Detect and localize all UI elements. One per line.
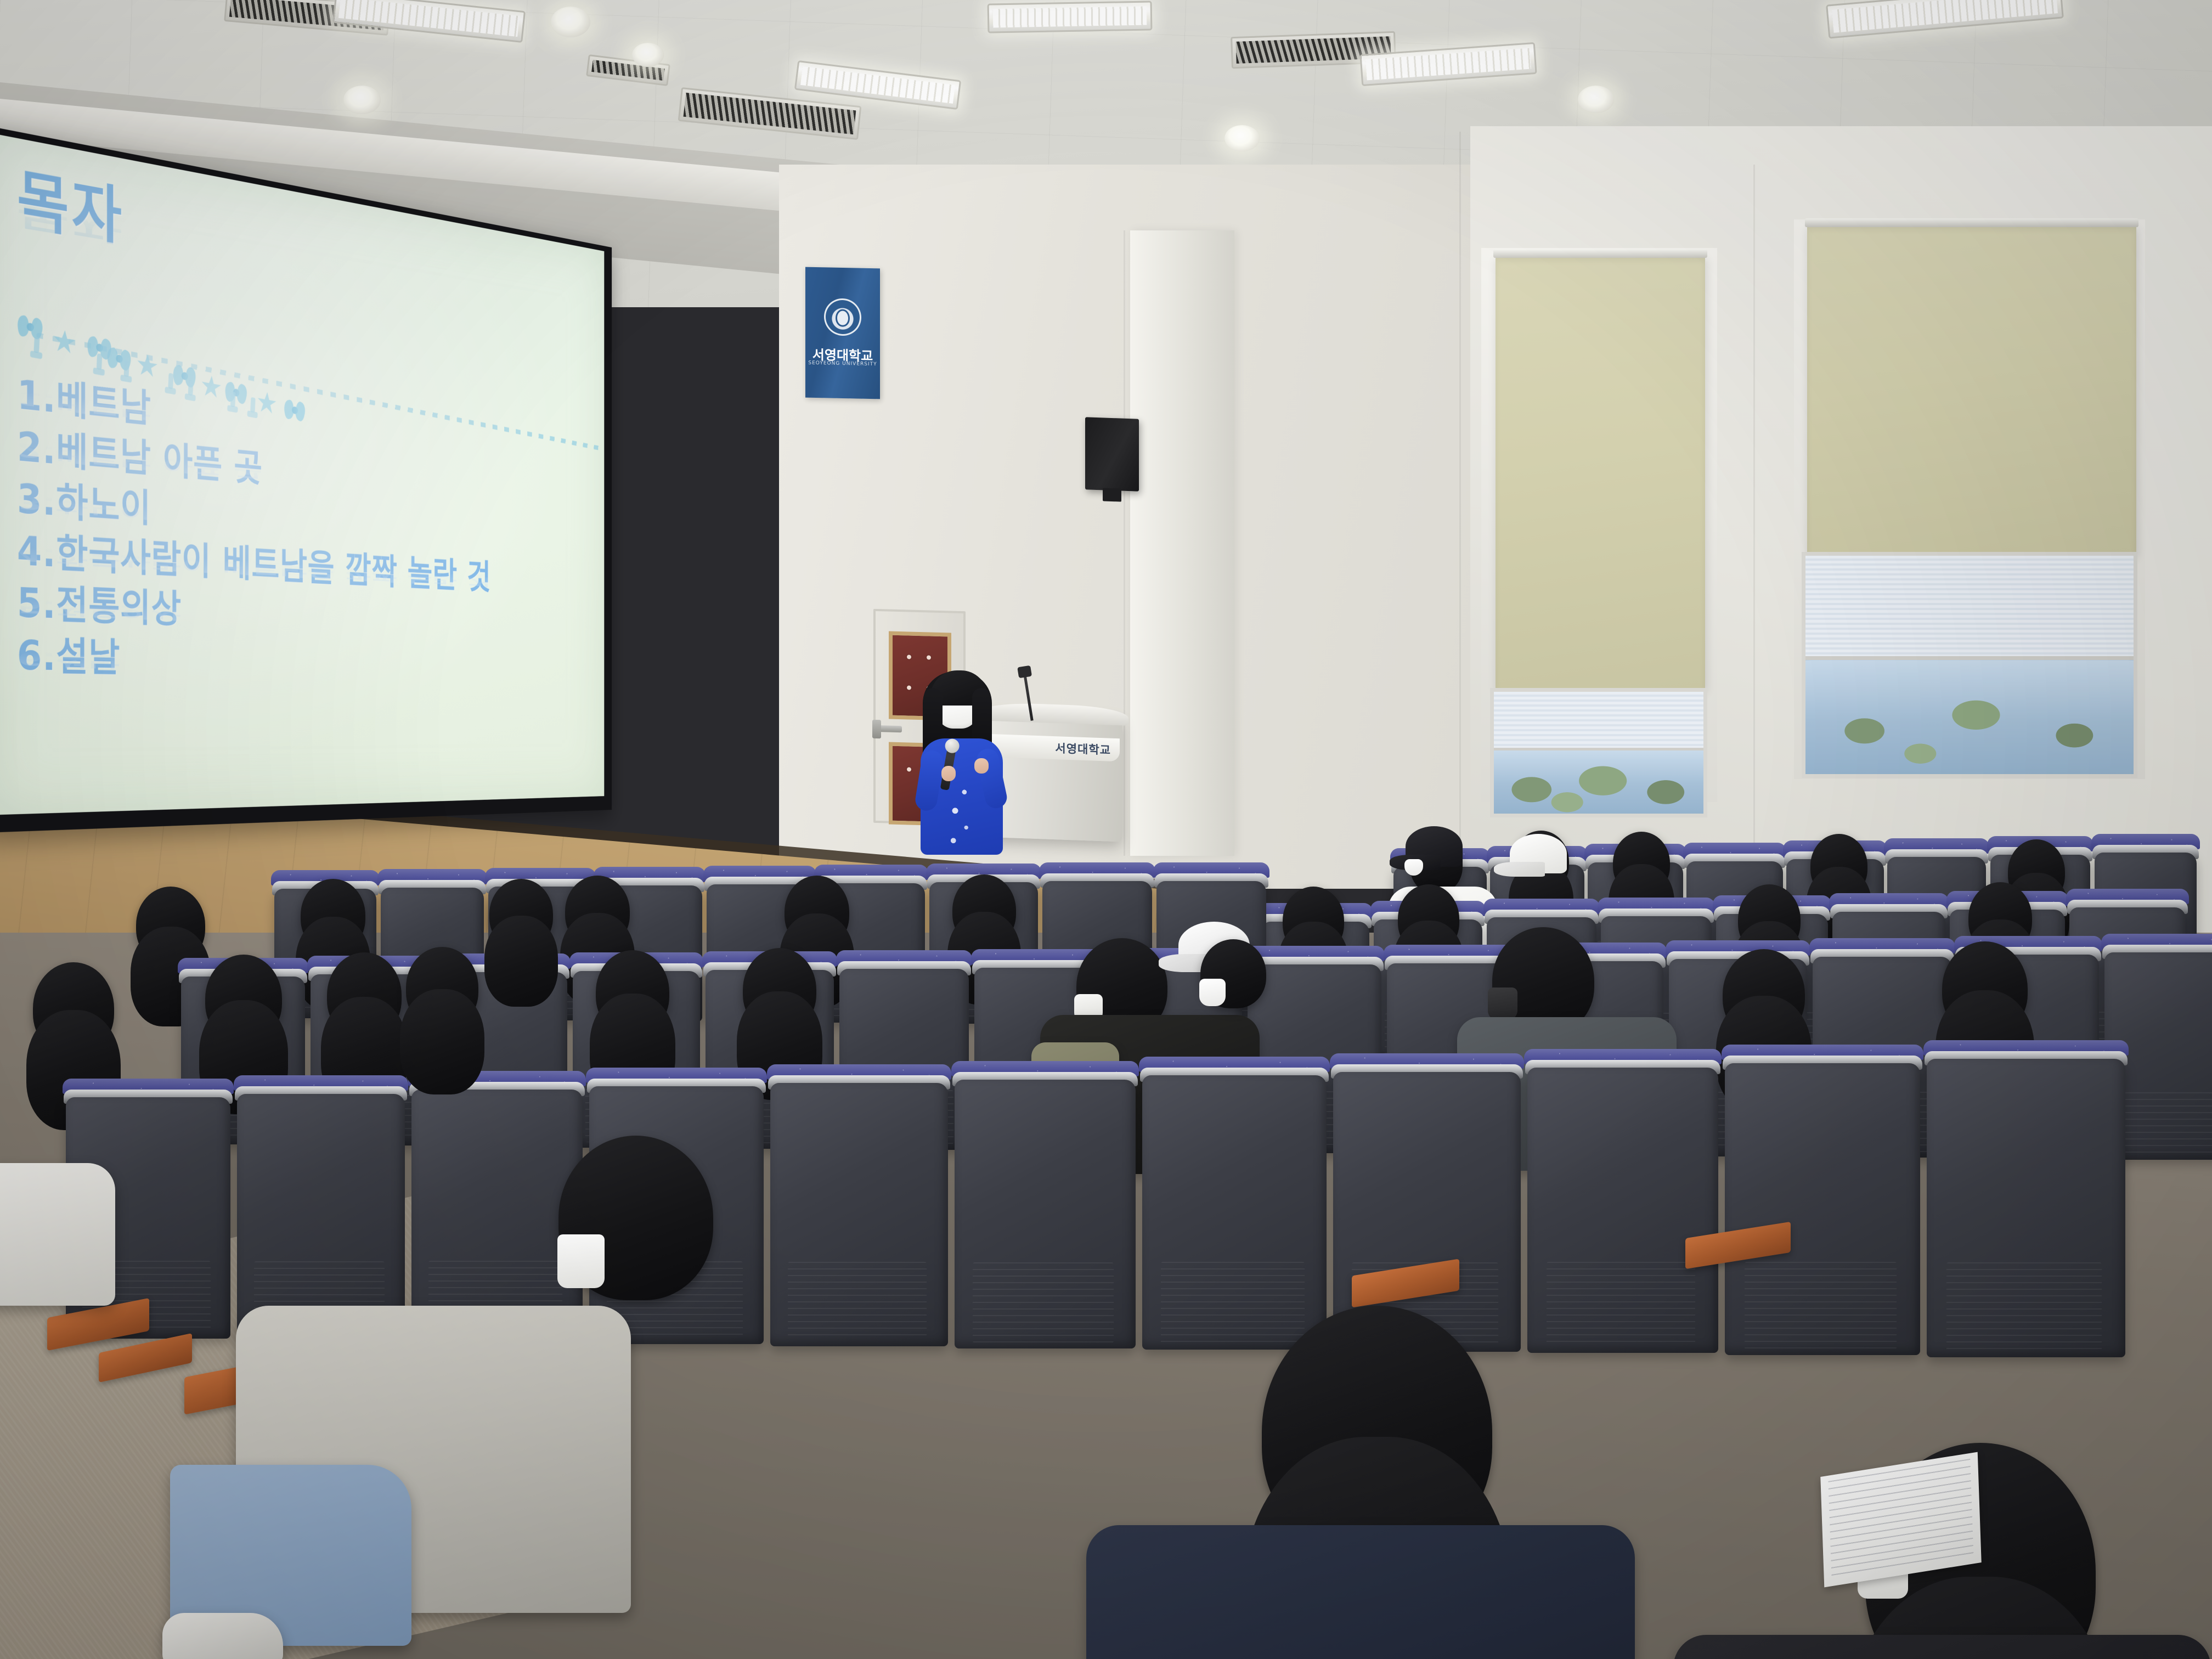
student-head: [1810, 834, 1867, 898]
student-winter-coat: [1086, 1525, 1635, 1659]
ceiling-downlight: [343, 86, 381, 114]
student-puffer-jacket: [1673, 1635, 2211, 1659]
ceiling-downlight: [1224, 125, 1260, 151]
window: [1802, 552, 2137, 778]
student-head: [489, 879, 553, 949]
face-mask-icon: [1488, 988, 1517, 1020]
student-head: [205, 955, 282, 1042]
bow-icon: [17, 314, 43, 340]
garland-drop: [97, 353, 103, 370]
window-sash: [1805, 656, 2134, 660]
student-head: [1613, 832, 1670, 894]
student-head: [743, 948, 816, 1031]
face-mask-icon: [1199, 979, 1226, 1006]
student-head: [1262, 1306, 1492, 1558]
auditorium-seat[interactable]: [411, 1090, 583, 1342]
presentation-slide: 목자 목자: [0, 133, 604, 815]
auditorium-seat[interactable]: [955, 1080, 1136, 1348]
ceiling-downlight: [1578, 86, 1614, 113]
auditorium-seat[interactable]: [1725, 1063, 1920, 1355]
seat-armrest: [99, 1333, 192, 1383]
window-pleated-shade: [1494, 692, 1703, 748]
ceiling-downlight: [632, 43, 664, 67]
student-head: [406, 947, 478, 1028]
student-head: [952, 874, 1016, 946]
auditorium-seating: [0, 757, 2212, 1659]
student-head: [136, 887, 205, 963]
student-head: [327, 952, 402, 1038]
student-head: [1398, 884, 1459, 953]
auditorium-seat[interactable]: [1927, 1059, 2125, 1357]
garland-drop: [124, 360, 129, 377]
podium-label: 서영대학교: [1055, 740, 1111, 758]
student-head: [301, 879, 365, 951]
ceiling-downlight: [551, 7, 590, 37]
projection-screen: 목자 목자: [0, 133, 604, 815]
auditorium-seat[interactable]: [1527, 1068, 1718, 1353]
face-mask-icon: [557, 1234, 605, 1288]
handout-content: [1828, 1459, 1973, 1581]
student-head: [596, 950, 669, 1034]
blind-headrail: [1493, 249, 1707, 258]
wall-speaker: [1085, 417, 1139, 491]
garland-drop: [33, 336, 39, 353]
door-handle[interactable]: [879, 725, 902, 732]
projection-screen-frame: 목자 목자: [0, 125, 612, 833]
lecture-hall-scene: 서영대학교 SEOYEONG UNIVERSITY: [0, 0, 2212, 1659]
roller-blind: [1496, 257, 1705, 690]
auditorium-seat[interactable]: [237, 1094, 405, 1341]
list-item-label: 3.하노이: [17, 476, 151, 531]
student-head: [565, 876, 630, 947]
white-cap-icon: [1510, 834, 1567, 873]
auditorium-seat[interactable]: [1142, 1075, 1327, 1350]
student-head: [1942, 941, 2028, 1036]
student-shoe: [162, 1613, 283, 1659]
cloth-bag-on-seat: [0, 1163, 115, 1306]
auditorium-seat[interactable]: [770, 1083, 948, 1346]
roller-blind: [1807, 226, 2136, 555]
ceiling-light-troffer: [988, 1, 1153, 33]
student-head: [1723, 949, 1805, 1039]
projection-screen-assembly: 목자 목자: [0, 125, 856, 833]
student-head: [785, 876, 849, 948]
blind-headrail: [1805, 218, 2138, 227]
window-pleated-shade: [1805, 556, 2134, 656]
student-head: [1283, 887, 1344, 955]
student-head: [33, 962, 114, 1054]
list-item-label: 6.설날: [17, 632, 120, 680]
list-item-label: 5.전통의상: [17, 580, 182, 631]
